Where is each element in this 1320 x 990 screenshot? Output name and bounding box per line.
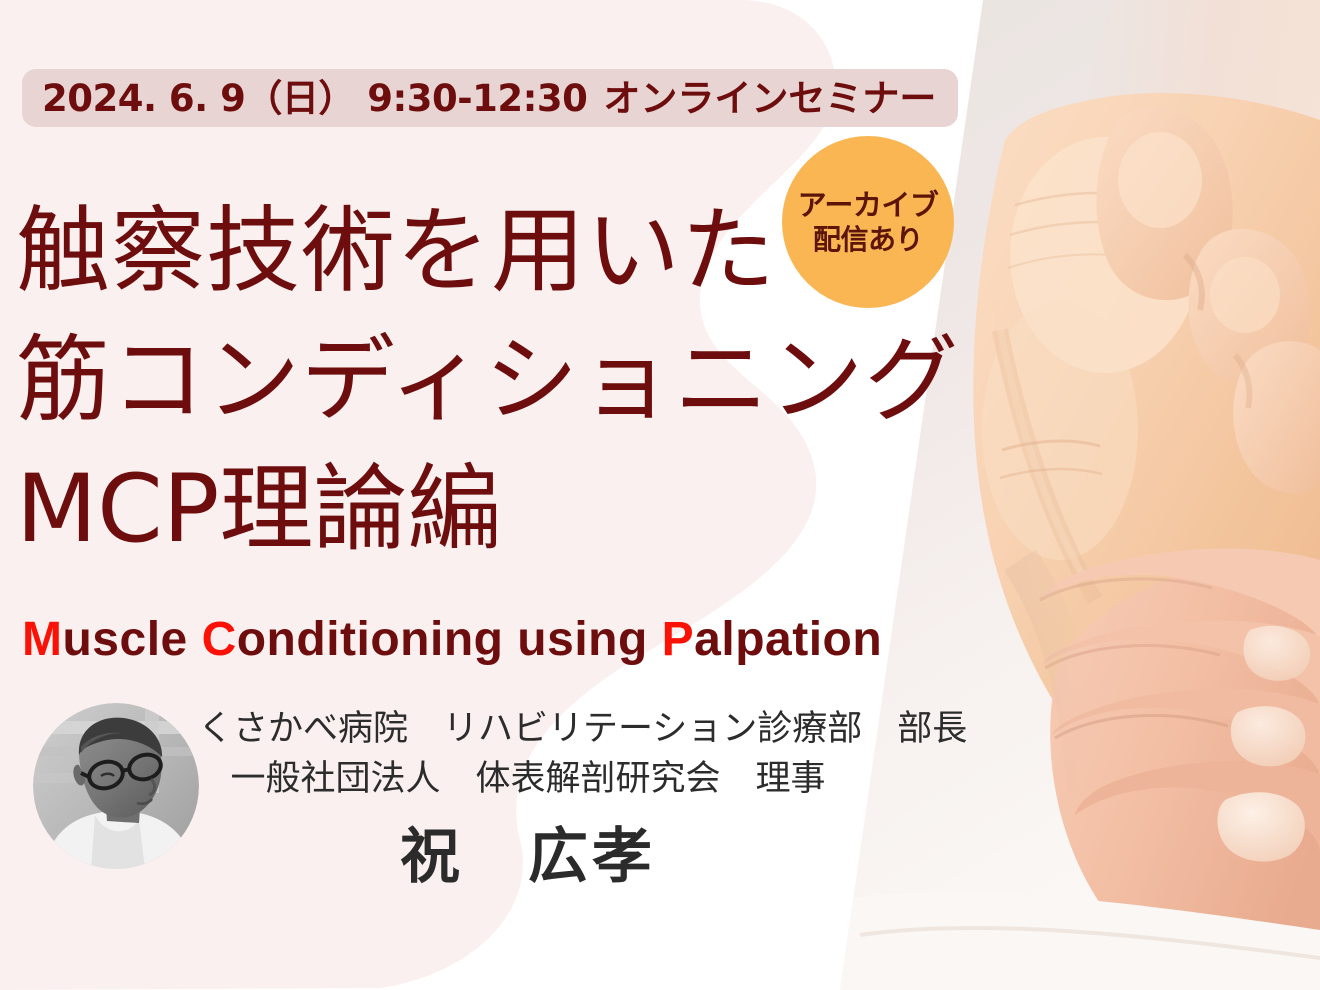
subtitle-initial-c: C — [202, 613, 237, 666]
presenter-affiliation-2: 一般社団法人 体表解剖研究会 理事 — [198, 755, 858, 805]
date-pill: 2024. 6. 9（日） 9:30-12:30オンラインセミナー — [22, 69, 958, 127]
presenter-affiliation-1: くさかべ病院 リハビリテーション診療部 部長 — [198, 705, 858, 755]
seminar-banner: 2024. 6. 9（日） 9:30-12:30オンラインセミナー アーカイブ … — [0, 0, 1320, 990]
seminar-date: 2024. 6. 9（日） 9:30-12:30 — [42, 77, 587, 120]
title-line-2: 筋コンディショニング — [16, 317, 959, 446]
subtitle-initial-p: P — [662, 613, 695, 666]
title-line-3: MCP理論編 — [16, 446, 959, 575]
archive-availability-badge: アーカイブ 配信あり — [782, 136, 954, 308]
seminar-format-label: オンラインセミナー — [603, 77, 936, 120]
presenter-credentials: くさかべ病院 リハビリテーション診療部 部長 一般社団法人 体表解剖研究会 理事 — [198, 705, 858, 804]
presenter-name: 祝 広孝 — [198, 808, 858, 895]
subtitle-initial-m: M — [22, 613, 62, 666]
subtitle-text-alpation: alpation — [694, 613, 882, 666]
subtitle-text-onditioning: onditioning using — [237, 613, 662, 666]
archive-badge-line1: アーカイブ — [798, 188, 939, 222]
presenter-avatar — [33, 703, 199, 869]
archive-badge-line2: 配信あり — [813, 223, 923, 256]
presenter-photo — [33, 703, 199, 869]
subtitle-text-uscle: uscle — [62, 613, 201, 666]
english-subtitle: Muscle Conditioning using Palpation — [22, 612, 882, 667]
